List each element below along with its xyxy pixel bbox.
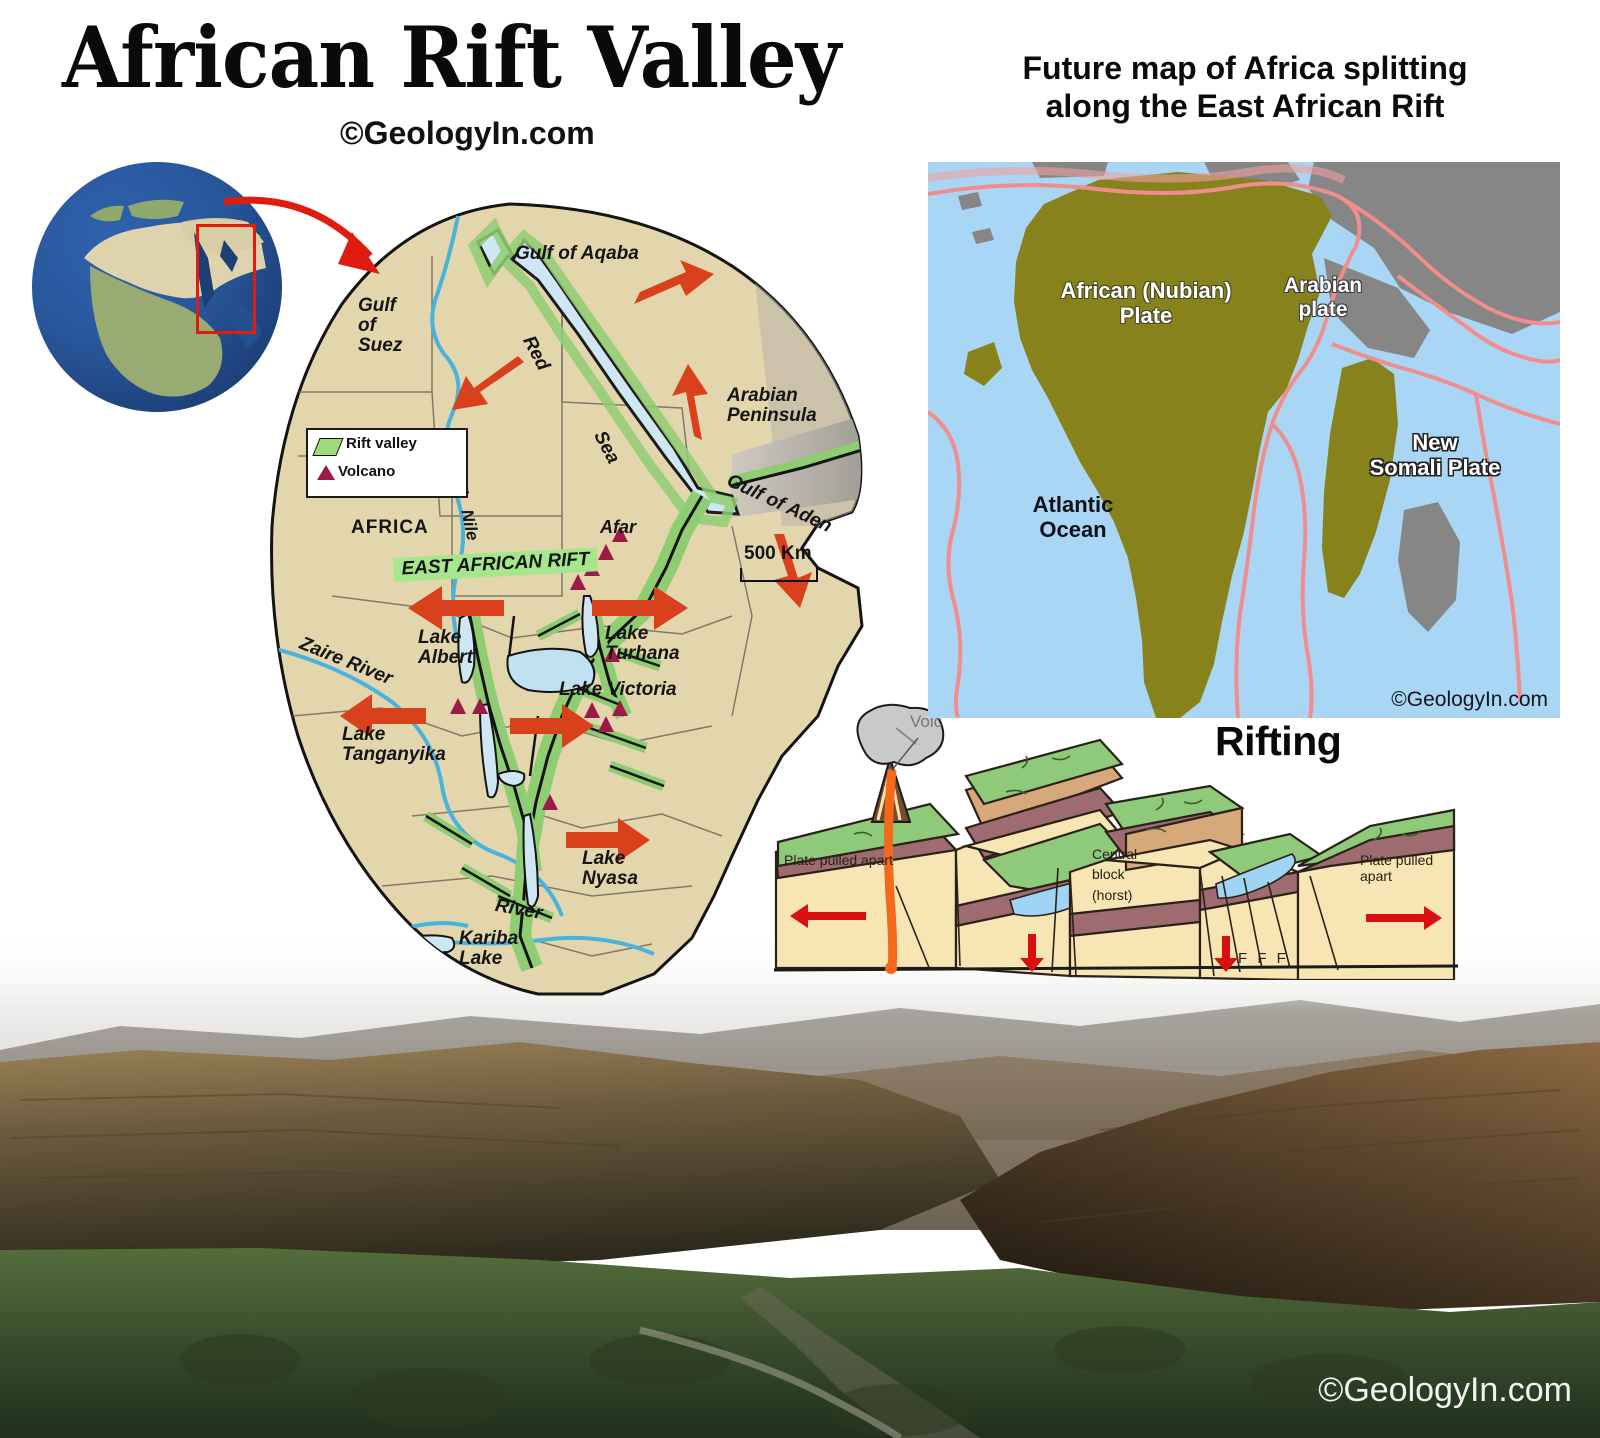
plate-map-title: Future map of Africa splitting along the… bbox=[915, 50, 1575, 126]
future-africa-plate-map: African (Nubian) Plate Arabian plate New… bbox=[928, 162, 1560, 718]
plate-map-copyright: ©GeologyIn.com bbox=[1391, 688, 1548, 712]
rifting-title: Rifting bbox=[1215, 718, 1341, 765]
label-african-nubian-plate: African (Nubian) Plate bbox=[1016, 278, 1276, 329]
map-label-lake-victoria: Lake Victoria bbox=[559, 680, 677, 700]
map-scale-label: 500 Km bbox=[744, 544, 812, 564]
label-plate-pulled-apart-left: Plate pulled apart bbox=[784, 852, 893, 868]
label-fault-marks: F F F bbox=[1238, 950, 1289, 967]
page-title: African Rift Valley bbox=[62, 8, 840, 107]
plate-map-title-line1: Future map of Africa splitting bbox=[1022, 50, 1467, 86]
label-arabian-plate: Arabian plate bbox=[1258, 274, 1388, 322]
map-label-lake-nyasa: Lake Nyasa bbox=[582, 849, 638, 889]
map-legend: Rift valley Volcano bbox=[306, 428, 468, 498]
infographic-root: ©GeologyIn.com African Rift Valley ©Geol… bbox=[0, 0, 1600, 1438]
label-plate-pulled-apart-right: Plate pulled apart bbox=[1360, 852, 1460, 884]
rift-valley-swatch bbox=[312, 438, 343, 456]
map-label-afar: Afar bbox=[600, 518, 636, 537]
legend-label-rift-valley: Rift valley bbox=[346, 435, 417, 452]
label-new-somali-plate: New Somali Plate bbox=[1340, 430, 1530, 481]
plate-map-title-line2: along the East African Rift bbox=[1046, 88, 1445, 124]
legend-label-volcano: Volcano bbox=[338, 463, 395, 480]
header-copyright: ©GeologyIn.com bbox=[340, 115, 595, 152]
rifting-block-diagram: .sand{fill:#f7e6b4;stroke:#2a2118;stroke… bbox=[770, 700, 1460, 980]
map-label-lake-albert: Lake Albert bbox=[418, 628, 473, 668]
map-label-gulf-of-aqaba: Gulf of Aqaba bbox=[515, 244, 639, 264]
map-label-lake-tanganyika: Lake Tanganyika bbox=[342, 725, 446, 765]
map-label-kariba-lake: Kariba Lake bbox=[459, 929, 518, 969]
map-label-arabian-peninsula: Arabian Peninsula bbox=[727, 386, 817, 426]
volcano-swatch bbox=[317, 465, 335, 480]
label-central-block: Central block (horst) bbox=[1092, 844, 1137, 905]
label-atlantic-ocean: Atlantic Ocean bbox=[998, 492, 1148, 543]
map-label-africa: AFRICA bbox=[351, 518, 429, 538]
map-scale-bar bbox=[740, 568, 818, 582]
rifting-graphic: .sand{fill:#f7e6b4;stroke:#2a2118;stroke… bbox=[770, 700, 1460, 980]
globe-pointer-arrow bbox=[220, 190, 440, 310]
photo-copyright: ©GeologyIn.com bbox=[1318, 1371, 1572, 1410]
map-label-lake-turhana: Lake Turhana bbox=[605, 624, 680, 664]
